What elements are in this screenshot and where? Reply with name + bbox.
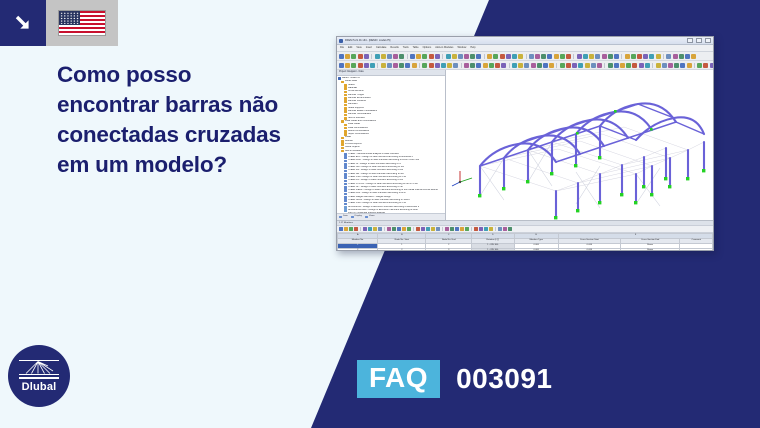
axis-triad-icon	[452, 171, 472, 186]
page-title-line-2: encontrar barras não	[57, 90, 325, 120]
toolbar-button[interactable]	[405, 63, 410, 68]
minimize-button[interactable]	[687, 38, 693, 43]
tree-item-icon	[344, 84, 347, 87]
toolbar-button[interactable]	[349, 227, 353, 231]
app-body: Project Navigator - Data DEMO: model.rf5…	[337, 70, 713, 220]
toolbar-button[interactable]	[441, 63, 446, 68]
toolbar-button[interactable]	[363, 227, 367, 231]
toolbar-button[interactable]	[421, 227, 425, 231]
toolbar-button[interactable]	[351, 63, 356, 68]
toolbar-button[interactable]	[518, 54, 523, 59]
toolbar-button[interactable]	[608, 63, 613, 68]
page-title-line-3: conectadas cruzadas	[57, 120, 325, 150]
toolbar-button[interactable]	[626, 63, 631, 68]
menu-item-tools[interactable]: Tools	[403, 46, 409, 49]
faq-badge: FAQ	[357, 360, 440, 398]
toolbar-button[interactable]	[339, 54, 344, 59]
toolbar-button[interactable]	[452, 54, 457, 59]
toolbar-button[interactable]	[541, 54, 546, 59]
menu-item-help[interactable]: Help	[470, 46, 475, 49]
tree-item-icon	[341, 81, 344, 84]
toolbar-button[interactable]	[506, 54, 511, 59]
top-badge-group	[0, 0, 118, 46]
toolbar-button[interactable]	[387, 63, 392, 68]
tree-item-icon	[344, 163, 347, 166]
toolbar-button[interactable]	[512, 63, 517, 68]
structural-members	[480, 103, 704, 218]
tree-item-icon	[344, 193, 347, 196]
us-flag-badge	[46, 0, 118, 46]
toolbar-separator	[442, 227, 443, 231]
toolbar-button[interactable]	[578, 63, 583, 68]
toolbar-button[interactable]	[436, 227, 440, 231]
table-cell[interactable]	[680, 249, 713, 252]
flag-stars	[60, 12, 79, 24]
toolbar-separator	[573, 54, 574, 59]
toolbar-button[interactable]	[479, 227, 483, 231]
menu-item-window[interactable]: Window	[457, 46, 466, 49]
page-title-line-4: em um modelo?	[57, 150, 325, 180]
toolbar-button[interactable]	[560, 63, 565, 68]
toolbar-button[interactable]	[450, 227, 454, 231]
arrow-down-right-icon	[0, 0, 46, 46]
tree-item-icon	[344, 206, 347, 209]
toolbar-button[interactable]	[446, 54, 451, 59]
table-cell[interactable]: 1 - IPE 300	[472, 249, 515, 252]
tree-item-icon	[344, 156, 347, 159]
toolbar-button[interactable]	[465, 227, 469, 231]
table-row[interactable]: 2231 - IPE 3000.0000.000Beam	[338, 249, 713, 252]
toolbar-button[interactable]	[500, 54, 505, 59]
tree-item-icon	[344, 173, 347, 176]
toolbar-button[interactable]	[354, 227, 358, 231]
toolbar-button[interactable]	[631, 54, 636, 59]
toolbar-button[interactable]	[566, 54, 571, 59]
page-title-line-1: Como posso	[57, 60, 325, 90]
toolbar-button[interactable]	[649, 54, 654, 59]
navigator-tab-label: Display	[355, 215, 362, 218]
toolbar-button[interactable]	[673, 54, 678, 59]
navigator-tab-label: Views	[369, 215, 375, 218]
toolbar-button[interactable]	[416, 227, 420, 231]
toolbar-button[interactable]	[583, 54, 588, 59]
toolbar-button[interactable]	[679, 54, 684, 59]
tree-item-icon	[344, 124, 347, 127]
toolbar-button[interactable]	[572, 63, 577, 68]
toolbar-button[interactable]	[375, 54, 380, 59]
toolbar-button[interactable]	[535, 54, 540, 59]
toolbar-separator	[556, 63, 557, 68]
table-head: ABCDEF Member No.Node No. StartNode No. …	[338, 234, 713, 244]
members-table[interactable]: ABCDEF Member No.Node No. StartNode No. …	[337, 233, 713, 251]
toolbar-separator	[471, 227, 472, 231]
toolbar-separator	[461, 63, 462, 68]
table-cell[interactable]: 0.000	[514, 249, 558, 252]
toolbar-button[interactable]	[512, 54, 517, 59]
menu-item-table[interactable]: Table	[413, 46, 419, 49]
project-navigator[interactable]: Project Navigator - Data DEMO: model.rf5…	[337, 70, 446, 220]
toolbar-button[interactable]	[393, 63, 398, 68]
navigator-tabs[interactable]: DataDisplayViews	[337, 213, 445, 220]
toolbar-button[interactable]	[422, 54, 427, 59]
tree-item-icon	[344, 127, 347, 130]
toolbar-button[interactable]	[697, 63, 702, 68]
toolbar-button[interactable]	[476, 63, 481, 68]
toolbar-button[interactable]	[392, 227, 396, 231]
maximize-button[interactable]	[696, 38, 702, 43]
navigator-tab-icon	[351, 216, 354, 219]
menu-bar[interactable]: FileEditViewInsertCalculateResultsToolsT…	[337, 45, 713, 52]
tree-item-icon	[338, 77, 341, 80]
toolbar-button[interactable]	[585, 63, 590, 68]
toolbar-button[interactable]	[381, 54, 386, 59]
toolbar-button[interactable]	[407, 227, 411, 231]
dlubal-logo-text: Dlubal	[22, 381, 57, 393]
toolbar-button[interactable]	[387, 54, 392, 59]
tree-item-icon	[344, 100, 347, 103]
model-viewport-3d[interactable]	[446, 70, 713, 220]
toolbar-button[interactable]	[460, 227, 464, 231]
toolbar-button[interactable]	[344, 227, 348, 231]
toolbar-button[interactable]	[620, 63, 625, 68]
toolbar-button[interactable]	[668, 63, 673, 68]
toolbar-button[interactable]	[339, 63, 344, 68]
toolbar-button[interactable]	[487, 54, 492, 59]
tree-item-icon	[344, 87, 347, 90]
faq-identifier: FAQ 003091	[357, 360, 553, 398]
menu-item-file[interactable]: File	[340, 46, 344, 49]
toolbar-button[interactable]	[639, 63, 644, 68]
toolbar-button[interactable]	[410, 54, 415, 59]
toolbar-button[interactable]	[416, 54, 421, 59]
toolbar-button[interactable]	[577, 54, 582, 59]
menu-item-add-on-modules[interactable]: Add-on Modules	[435, 46, 453, 49]
toolbar-button[interactable]	[378, 227, 382, 231]
toolbar-button[interactable]	[595, 54, 600, 59]
toolbar-separator	[419, 63, 420, 68]
menu-item-edit[interactable]: Edit	[348, 46, 352, 49]
toolbar-button[interactable]	[554, 54, 559, 59]
navigator-tab-label: Data	[343, 215, 348, 218]
table-cell[interactable]: 2	[338, 249, 378, 252]
window-controls	[687, 38, 711, 43]
toolbar-button[interactable]	[691, 54, 696, 59]
toolbar-button[interactable]	[370, 63, 375, 68]
window-title: RFEM 5.21.01 x64 - [DEMO: model.rf5]	[345, 39, 390, 42]
toolbar-button[interactable]	[498, 227, 502, 231]
tree-item-icon	[341, 120, 344, 123]
navigator-tab-icon	[365, 216, 368, 219]
tree-item-icon	[344, 166, 347, 169]
toolbar-button[interactable]	[464, 54, 469, 59]
toolbar-button[interactable]	[662, 63, 667, 68]
toolbar-button[interactable]	[402, 227, 406, 231]
toolbar-separator	[509, 63, 510, 68]
toolbar-button[interactable]	[387, 227, 391, 231]
toolbar-button[interactable]	[710, 63, 713, 68]
toolbar-button[interactable]	[393, 54, 398, 59]
toolbar-button[interactable]	[687, 63, 692, 68]
toolbar-button[interactable]	[503, 227, 507, 231]
toolbar-separator	[694, 63, 695, 68]
tree-item-icon	[344, 91, 347, 94]
toolbar-separator	[360, 227, 361, 231]
toolbar-button[interactable]	[591, 63, 596, 68]
toolbar-button[interactable]	[680, 63, 685, 68]
tree-item-icon	[344, 110, 347, 113]
navigator-tab-display[interactable]: Display	[351, 215, 362, 218]
toolbar-button[interactable]	[508, 227, 512, 231]
toolbar-button[interactable]	[351, 54, 356, 59]
toolbar-button[interactable]	[656, 54, 661, 59]
tree-item-icon	[344, 180, 347, 183]
tree-item-icon	[344, 160, 347, 163]
toolbar-button[interactable]	[345, 63, 350, 68]
tree-item-icon	[344, 104, 347, 107]
page-title: Como posso encontrar barras não conectad…	[57, 60, 325, 180]
support-nodes	[478, 110, 705, 219]
toolbar-button[interactable]	[543, 63, 548, 68]
toolbar-button[interactable]	[476, 54, 481, 59]
toolbar-button[interactable]	[445, 227, 449, 231]
toolbar-button[interactable]	[602, 54, 607, 59]
toolbar-button[interactable]	[703, 63, 708, 68]
toolbar-button[interactable]	[637, 54, 642, 59]
toolbar-button[interactable]	[364, 63, 369, 68]
toolbar-button[interactable]	[470, 54, 475, 59]
toolbar-button[interactable]	[412, 63, 417, 68]
faq-number: 003091	[456, 363, 552, 395]
toolbar-button[interactable]	[422, 63, 427, 68]
tree-item-icon	[344, 189, 347, 192]
toolbar-button[interactable]	[589, 54, 594, 59]
navigator-tab-icon	[339, 216, 342, 219]
toolbar-button[interactable]	[614, 63, 619, 68]
table-cell[interactable]: 0.000	[558, 249, 620, 252]
toolbar-separator	[495, 227, 496, 231]
toolbar-separator	[652, 63, 653, 68]
toolbar-separator	[407, 54, 408, 59]
toolbar-button[interactable]	[358, 54, 363, 59]
toolbar-separator	[604, 63, 605, 68]
menu-item-options[interactable]: Options	[423, 46, 432, 49]
toolbar-button[interactable]	[358, 63, 363, 68]
toolbar-separator	[484, 54, 485, 59]
rfem-application-screenshot: RFEM 5.21.01 x64 - [DEMO: model.rf5] Fil…	[336, 36, 714, 251]
tree-item-icon	[341, 137, 344, 140]
toolbar-button[interactable]	[489, 227, 493, 231]
toolbar-button[interactable]	[501, 63, 506, 68]
tree-item-icon	[344, 176, 347, 179]
toolbar-button[interactable]	[625, 54, 630, 59]
table-cell[interactable]: 3	[426, 249, 472, 252]
toolbar-button[interactable]	[614, 54, 619, 59]
app-icon	[339, 39, 343, 43]
toolbar-secondary[interactable]	[337, 61, 713, 70]
toolbar-button[interactable]	[458, 54, 463, 59]
toolbar-button[interactable]	[493, 54, 498, 59]
tree-item-icon	[344, 186, 347, 189]
tree-item-icon	[344, 209, 347, 212]
tree-item-icon	[341, 140, 344, 143]
toolbar-button[interactable]	[674, 63, 679, 68]
toolbar-button[interactable]	[345, 54, 350, 59]
toolbar-button[interactable]	[399, 63, 404, 68]
toolbar-button[interactable]	[560, 54, 565, 59]
toolbar-button[interactable]	[426, 227, 430, 231]
toolbar-button[interactable]	[373, 227, 377, 231]
toolbar-button[interactable]	[431, 227, 435, 231]
flag-canton	[59, 11, 80, 25]
tree-item-icon	[341, 147, 344, 150]
tree-item-icon	[344, 199, 347, 202]
table-cell[interactable]: Beam	[620, 249, 680, 252]
tree-item-icon	[344, 114, 347, 117]
toolbar-button[interactable]	[435, 63, 440, 68]
toolbar-button[interactable]	[518, 63, 523, 68]
toolbar-button[interactable]	[381, 63, 386, 68]
menu-item-insert[interactable]: Insert	[366, 46, 372, 49]
toolbar-button[interactable]	[364, 54, 369, 59]
navigator-tree-items[interactable]: DEMO: model.rf5Model DataNodesMaterialsC…	[337, 76, 445, 213]
toolbar-button[interactable]	[429, 63, 434, 68]
toolbar-separator	[663, 54, 664, 59]
tree-item-icon	[344, 170, 347, 173]
toolbar-separator	[413, 227, 414, 231]
toolbar-button[interactable]	[656, 63, 661, 68]
toolbar-button[interactable]	[484, 227, 488, 231]
toolbar-button[interactable]	[429, 54, 434, 59]
toolbar-button[interactable]	[608, 54, 613, 59]
toolbar-button[interactable]	[549, 63, 554, 68]
toolbar-separator	[526, 54, 527, 59]
bridge-truss-icon	[19, 360, 59, 380]
toolbar-button[interactable]	[399, 54, 404, 59]
table-panel[interactable]: 1.17 Members ABCDEF Member No.Node No. S…	[337, 220, 713, 251]
tree-item-icon	[344, 203, 347, 206]
tree-item-icon	[344, 153, 347, 156]
toolbar-separator	[621, 54, 622, 59]
toolbar-separator	[377, 63, 378, 68]
toolbar-button[interactable]	[470, 63, 475, 68]
toolbar-button[interactable]	[489, 63, 494, 68]
close-button[interactable]	[705, 38, 711, 43]
toolbar-button[interactable]	[566, 63, 571, 68]
slide-canvas: Como posso encontrar barras não conectad…	[0, 0, 760, 428]
toolbar-button[interactable]	[368, 227, 372, 231]
tree-item-icon	[344, 97, 347, 100]
toolbar-button[interactable]	[339, 227, 343, 231]
tree-item-icon	[344, 107, 347, 110]
toolbar-button[interactable]	[632, 63, 637, 68]
toolbar-button[interactable]	[474, 227, 478, 231]
toolbar-separator	[371, 54, 372, 59]
toolbar-button[interactable]	[547, 54, 552, 59]
toolbar-button[interactable]	[666, 54, 671, 59]
table-toolbar[interactable]	[337, 226, 713, 233]
toolbar-button[interactable]	[397, 227, 401, 231]
us-flag-icon	[58, 10, 106, 36]
menu-item-calculate[interactable]: Calculate	[376, 46, 386, 49]
toolbar-button[interactable]	[531, 63, 536, 68]
table-cell[interactable]: 2	[378, 249, 426, 252]
toolbar-button[interactable]	[495, 63, 500, 68]
dlubal-logo: Dlubal	[8, 345, 70, 407]
toolbar-button[interactable]	[537, 63, 542, 68]
toolbar-button[interactable]	[455, 227, 459, 231]
toolbar-button[interactable]	[464, 63, 469, 68]
toolbar-separator	[384, 227, 385, 231]
window-titlebar: RFEM 5.21.01 x64 - [DEMO: model.rf5]	[337, 37, 713, 45]
tree-item-icon	[344, 196, 347, 199]
toolbar-button[interactable]	[447, 63, 452, 68]
toolbar-button[interactable]	[435, 54, 440, 59]
toolbar-button[interactable]	[597, 63, 602, 68]
tree-item-icon	[341, 143, 344, 146]
toolbar-primary[interactable]	[337, 52, 713, 61]
table-body: 1121 - IPE 3000.0000.000Beam2231 - IPE 3…	[338, 244, 713, 252]
tree-item-icon	[344, 130, 347, 133]
menu-item-view[interactable]: View	[356, 46, 361, 49]
navigator-tab-data[interactable]: Data	[339, 215, 348, 218]
toolbar-button[interactable]	[529, 54, 534, 59]
toolbar-button[interactable]	[524, 63, 529, 68]
frame-structure-model	[446, 70, 713, 220]
toolbar-button[interactable]	[685, 54, 690, 59]
toolbar-button[interactable]	[453, 63, 458, 68]
toolbar-button[interactable]	[645, 63, 650, 68]
menu-item-results[interactable]: Results	[390, 46, 398, 49]
toolbar-separator	[442, 54, 443, 59]
toolbar-button[interactable]	[483, 63, 488, 68]
navigator-tab-views[interactable]: Views	[365, 215, 375, 218]
toolbar-button[interactable]	[643, 54, 648, 59]
